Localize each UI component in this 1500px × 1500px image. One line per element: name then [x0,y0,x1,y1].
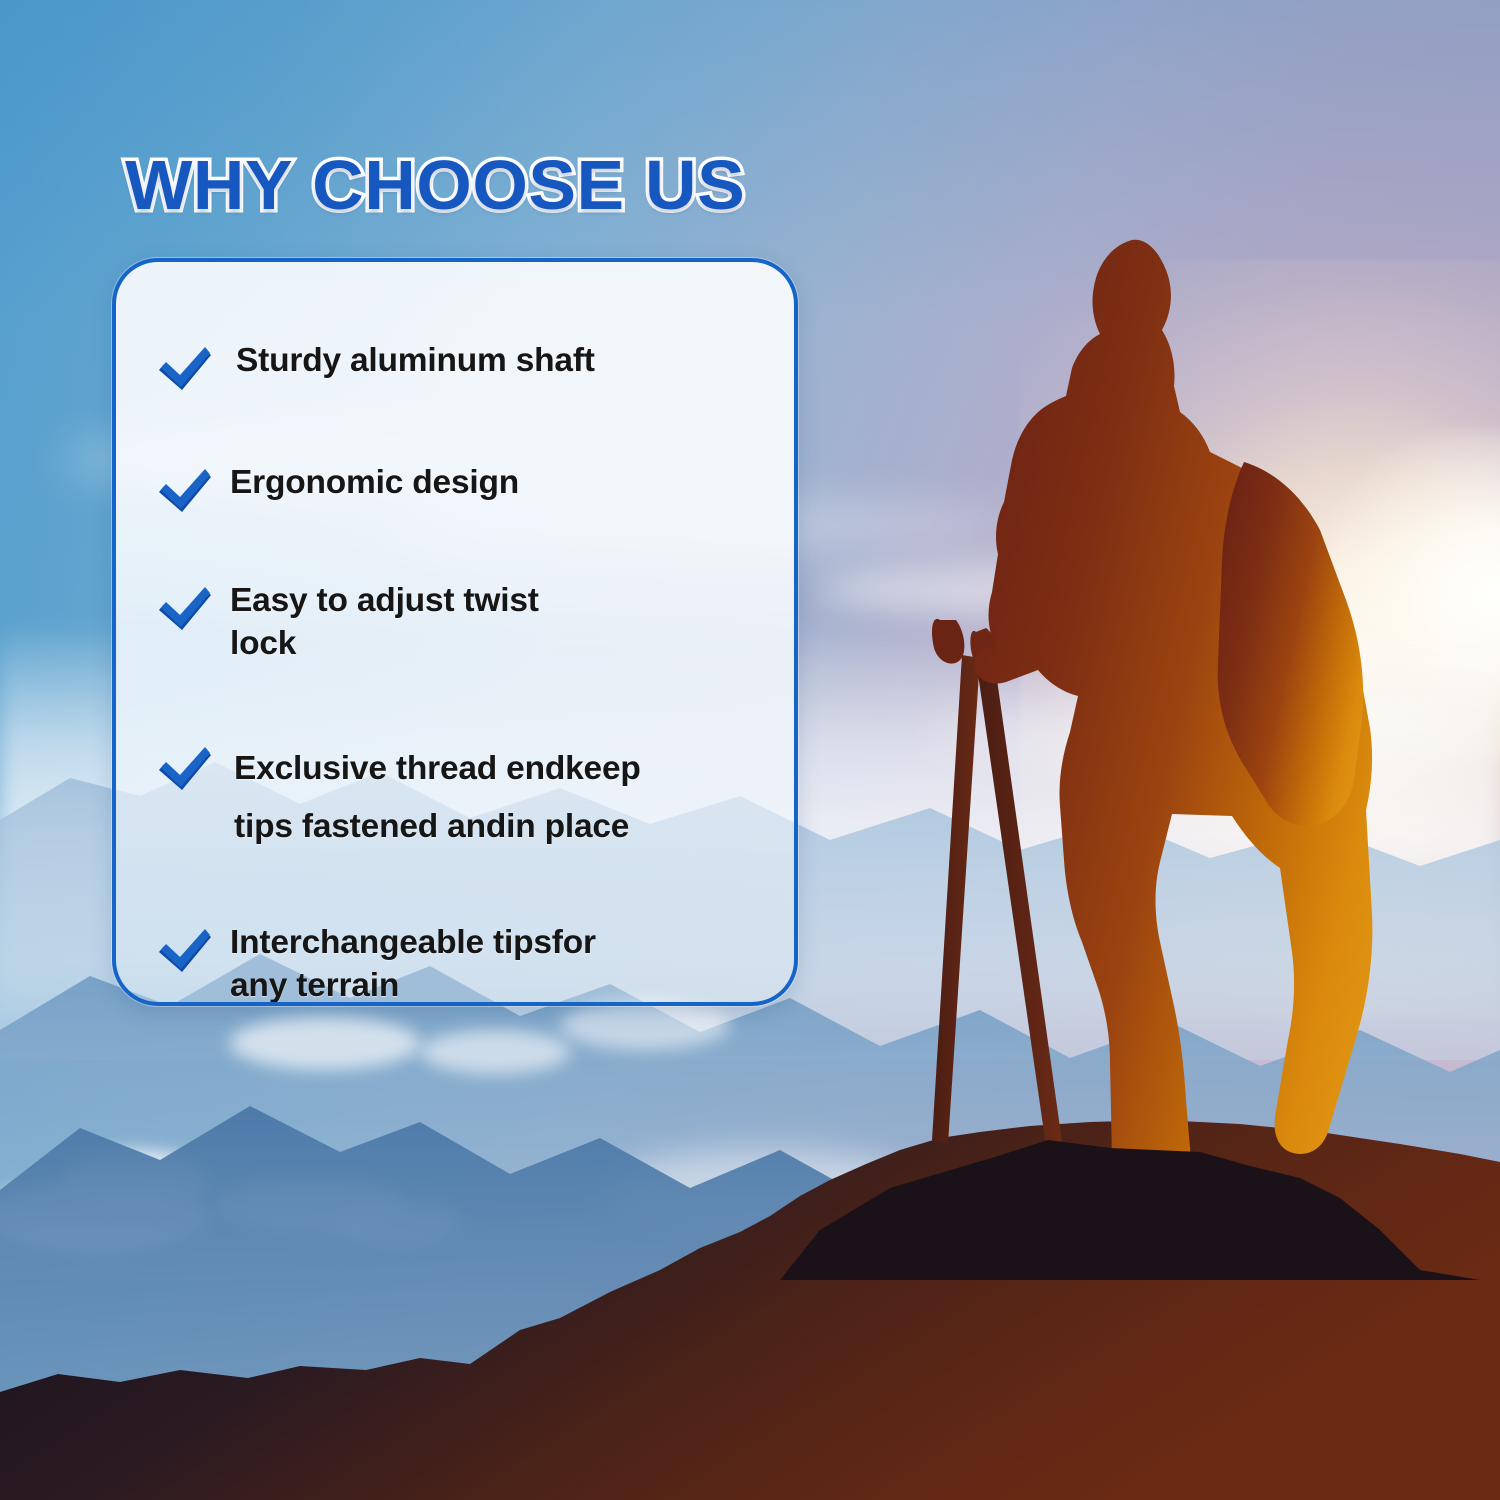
features-panel: Sturdy aluminum shaft Ergonomic design [112,258,798,1006]
list-item: Ergonomic design [156,462,772,516]
hiker-silhouette [780,200,1480,1280]
page-title: WHY CHOOSE US [125,145,745,225]
list-item-label: Sturdy aluminum shaft [226,340,595,383]
check-icon [156,584,214,634]
list-item-label: Interchangeable tipsfor any terrain [226,922,596,1006]
list-item-label: Ergonomic design [226,462,519,505]
list-item: Exclusive thread endkeep tips fastened a… [156,740,772,857]
list-item-label: Easy to adjust twist lock [226,580,539,666]
check-icon [156,466,214,516]
features-list: Sturdy aluminum shaft Ergonomic design [116,262,794,1002]
check-icon [156,744,214,794]
list-item-label: Exclusive thread endkeep tips fastened a… [226,740,641,857]
list-item: Sturdy aluminum shaft [156,340,772,394]
check-icon [156,344,214,394]
list-item: Easy to adjust twist lock [156,580,772,666]
poster-canvas: WHY CHOOSE US Sturdy aluminum shaft [0,0,1500,1500]
check-icon [156,926,214,976]
list-item: Interchangeable tipsfor any terrain [156,922,772,1006]
